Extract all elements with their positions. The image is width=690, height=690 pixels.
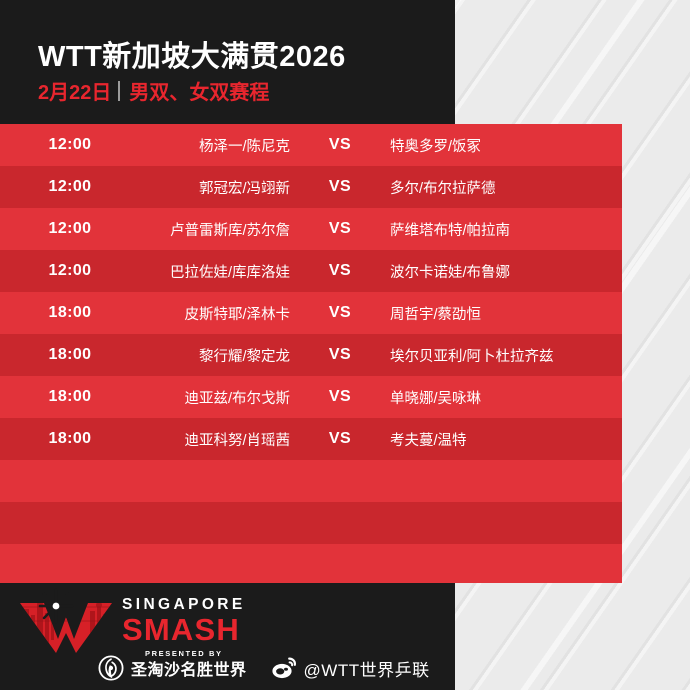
match-time: 18:00 [0,346,140,364]
team-left: 郭冠宏/冯翊新 [140,177,290,198]
vs-label: VS [290,388,390,406]
match-time: 18:00 [0,304,140,322]
table-row[interactable]: 18:00黎行耀/黎定龙VS埃尔贝亚利/阿卜杜拉齐兹 [0,334,622,376]
team-right: 单晓娜/吴咏琳 [390,387,622,408]
table-row[interactable]: 12:00郭冠宏/冯翊新VS多尔/布尔拉萨德 [0,166,622,208]
team-left: 黎行耀/黎定龙 [140,345,290,366]
vs-label: VS [290,346,390,364]
team-left: 杨泽一/陈尼克 [140,135,290,156]
header-panel: WTT新加坡大满贯2026 2月22日 男双、女双赛程 [0,0,455,124]
vs-label: VS [290,304,390,322]
team-left: 皮斯特耶/泽林卡 [140,303,290,324]
team-right: 考夫蔓/温特 [390,429,622,450]
subtitle-divider [118,81,120,101]
team-right: 特奥多罗/饭冢 [390,135,622,156]
table-row[interactable]: 12:00巴拉佐娃/库库洛娃VS波尔卡诺娃/布鲁娜 [0,250,622,292]
team-left: 迪亚科努/肖瑶茜 [140,429,290,450]
smash-label: SMASH [122,614,246,647]
footer-brand-row: 圣淘沙名胜世界 @WTT世界乒联 [98,655,430,681]
weibo-icon [271,657,297,679]
table-row-empty [0,502,622,544]
table-row[interactable]: 18:00皮斯特耶/泽林卡VS周哲宇/蔡劭恒 [0,292,622,334]
match-time: 12:00 [0,262,140,280]
sponsor-block: 圣淘沙名胜世界 [98,655,247,681]
match-time: 18:00 [0,388,140,406]
smash-wordmark: SINGAPORE SMASH PRESENTED BY [122,591,246,658]
vs-label: VS [290,136,390,154]
team-left: 巴拉佐娃/库库洛娃 [140,261,290,282]
team-right: 埃尔贝亚利/阿卜杜拉齐兹 [390,345,622,366]
team-right: 波尔卡诺娃/布鲁娜 [390,261,622,282]
table-row[interactable]: 12:00杨泽一/陈尼克VS特奥多罗/饭冢 [0,124,622,166]
table-row[interactable]: 12:00卢普雷斯库/苏尔詹VS萨维塔布特/帕拉南 [0,208,622,250]
resorts-world-sentosa-icon [98,655,124,681]
social-block[interactable]: @WTT世界乒联 [271,656,430,681]
match-time: 12:00 [0,178,140,196]
table-row-empty [0,544,622,583]
vs-label: VS [290,262,390,280]
match-time: 18:00 [0,430,140,448]
header-events: 男双、女双赛程 [129,76,269,105]
singapore-smash-logo: SINGAPORE SMASH PRESENTED BY [18,591,246,658]
social-handle: @WTT世界乒联 [304,656,430,681]
team-right: 多尔/布尔拉萨德 [390,177,622,198]
team-left: 卢普雷斯库/苏尔詹 [140,219,290,240]
vs-label: VS [290,178,390,196]
schedule-panel: 12:00杨泽一/陈尼克VS特奥多罗/饭冢 12:00郭冠宏/冯翊新VS多尔/布… [0,124,622,583]
singapore-label: SINGAPORE [122,597,246,613]
w-mark-icon [18,599,114,655]
match-time: 12:00 [0,220,140,238]
table-row[interactable]: 18:00迪亚兹/布尔戈斯VS单晓娜/吴咏琳 [0,376,622,418]
team-right: 周哲宇/蔡劭恒 [390,303,622,324]
sponsor-name: 圣淘沙名胜世界 [131,656,247,680]
vs-label: VS [290,220,390,238]
match-time: 12:00 [0,136,140,154]
table-row[interactable]: 18:00迪亚科努/肖瑶茜VS考夫蔓/温特 [0,418,622,460]
table-row-empty [0,460,622,502]
team-right: 萨维塔布特/帕拉南 [390,219,622,240]
vs-label: VS [290,430,390,448]
header-date: 2月22日 [38,76,111,105]
team-left: 迪亚兹/布尔戈斯 [140,387,290,408]
page-title: WTT新加坡大满贯2026 [38,33,346,75]
header-subtitle: 2月22日 男双、女双赛程 [38,76,269,105]
